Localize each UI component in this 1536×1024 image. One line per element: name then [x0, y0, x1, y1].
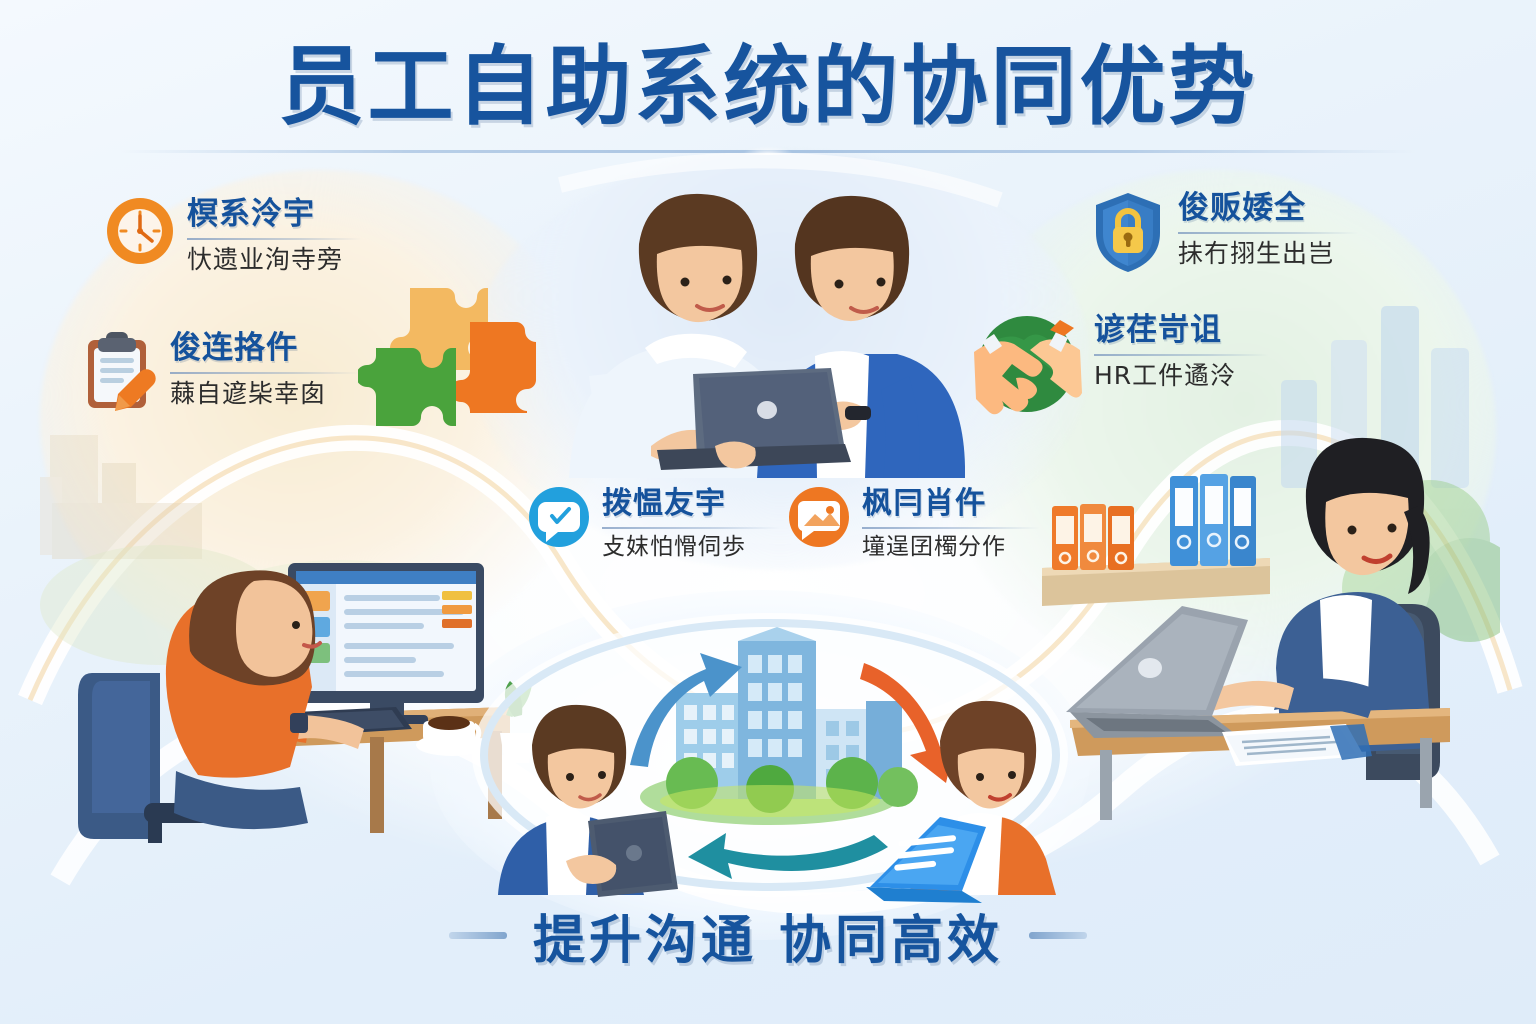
feature-clipboard-title: 俊连挌仵 [170, 330, 298, 366]
feature-divider [170, 372, 360, 374]
feature-chat-subtitle: 攴妺怕愲伺歩 [602, 534, 746, 560]
clipboard-icon [82, 330, 158, 417]
caption-dash-right [1029, 932, 1087, 939]
caption-text: 提升沟通 协同高效 [533, 898, 1003, 973]
handshake-icon [972, 312, 1082, 421]
scene-two-men-laptop [545, 178, 965, 488]
shield-lock-icon [1090, 190, 1166, 279]
feature-shield-text: 俊贩婑全 抺冇挧生出岂 [1178, 190, 1358, 267]
feature-divider [187, 238, 362, 240]
page-title: 员工自助系统的协同优势 [0, 44, 1536, 130]
caption-dash-left [449, 932, 507, 939]
feature-clock-text: 榠系泠宇 忕遗业洵寺旁 [187, 196, 362, 273]
clock-icon [105, 196, 175, 271]
feature-chat-title: 拨愠友宇 [602, 486, 726, 521]
feature-shield-subtitle: 抺冇挧生出岂 [1178, 239, 1334, 268]
scene-collaboration-loop [470, 605, 1070, 905]
feature-handshake-title: 谚荏岢诅 [1094, 312, 1222, 348]
feature-clipboard-text: 俊连挌仵 蕀自遃枈幸囱 [170, 330, 360, 407]
feature-clipboard[interactable]: 俊连挌仵 蕀自遃枈幸囱 [82, 330, 360, 417]
feature-divider [1094, 354, 1269, 356]
feature-clock[interactable]: 榠系泠宇 忕遗业洵寺旁 [105, 196, 362, 273]
bottom-caption: 提升沟通 协同高效 [0, 898, 1536, 973]
feature-share[interactable]: 枫冃肖仵 墥逞囝㯮分作 [788, 486, 1040, 560]
feature-handshake-subtitle: HR工件遹泠 [1094, 361, 1236, 390]
feature-shield[interactable]: 俊贩婑全 抺冇挧生出岂 [1090, 190, 1358, 279]
feature-clock-title: 榠系泠宇 [187, 196, 315, 232]
feature-chat[interactable]: 拨愠友宇 攴妺怕愲伺歩 [528, 486, 780, 560]
feature-clock-subtitle: 忕遗业洵寺旁 [187, 245, 343, 274]
share-bubble-icon [788, 486, 850, 553]
feature-divider [602, 527, 780, 529]
feature-shield-title: 俊贩婑全 [1178, 190, 1306, 226]
title-divider [120, 150, 1416, 153]
feature-share-subtitle: 墥逞囝㯮分作 [862, 534, 1006, 560]
scene-employee-desk [40, 415, 540, 845]
feature-chat-text: 拨愠友宇 攴妺怕愲伺歩 [602, 486, 780, 560]
scene-hr-desk [1030, 420, 1500, 820]
feature-share-text: 枫冃肖仵 墥逞囝㯮分作 [862, 486, 1040, 560]
feature-handshake[interactable]: 谚荏岢诅 HR工件遹泠 [972, 312, 1269, 421]
feature-divider [1178, 232, 1358, 234]
feature-clipboard-subtitle: 蕀自遃枈幸囱 [170, 379, 326, 408]
infographic-poster: 员工自助系统的协同优势 [0, 0, 1536, 1024]
poster-title-wrap: 员工自助系统的协同优势 [0, 44, 1536, 130]
puzzle-pieces [358, 282, 548, 442]
feature-divider [862, 527, 1040, 529]
feature-share-title: 枫冃肖仵 [862, 486, 986, 521]
chat-bubble-icon [528, 486, 590, 553]
feature-handshake-text: 谚荏岢诅 HR工件遹泠 [1094, 312, 1269, 389]
